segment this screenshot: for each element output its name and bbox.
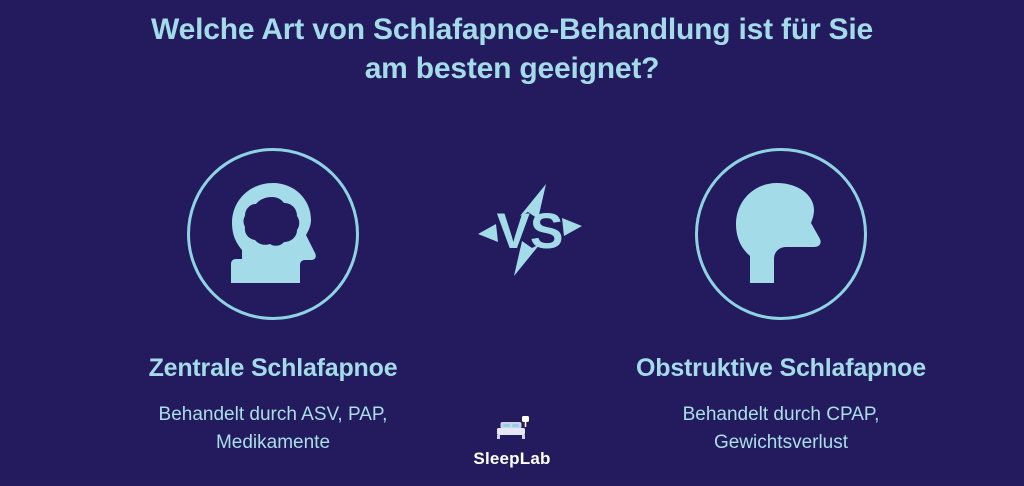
head-brain-icon: [212, 173, 334, 295]
right-icon-circle: [695, 148, 867, 320]
left-icon-circle: [187, 148, 359, 320]
versus-label: VS: [497, 203, 564, 259]
bed-lamp-icon: [0, 415, 1024, 446]
left-column-title: Zentrale Schlafapnoe: [53, 353, 493, 383]
brand-logo: SleepLab: [0, 415, 1024, 468]
right-column-title: Obstruktive Schlafapnoe: [561, 353, 1001, 383]
page-title-line-2: am besten geeignet?: [60, 49, 964, 88]
page-title: Welche Art von Schlafapnoe-Behandlung is…: [0, 10, 1024, 88]
head-airway-icon: [720, 173, 842, 295]
brand-name: SleepLab: [0, 449, 1024, 468]
comparison-column-right: Obstruktive Schlafapnoe Behandelt durch …: [561, 148, 1001, 457]
page-title-line-1: Welche Art von Schlafapnoe-Behandlung is…: [60, 10, 964, 49]
comparison-column-left: Zentrale Schlafapnoe Behandelt durch ASV…: [53, 148, 493, 457]
sleep-apnea-infographic: Welche Art von Schlafapnoe-Behandlung is…: [0, 0, 1024, 486]
